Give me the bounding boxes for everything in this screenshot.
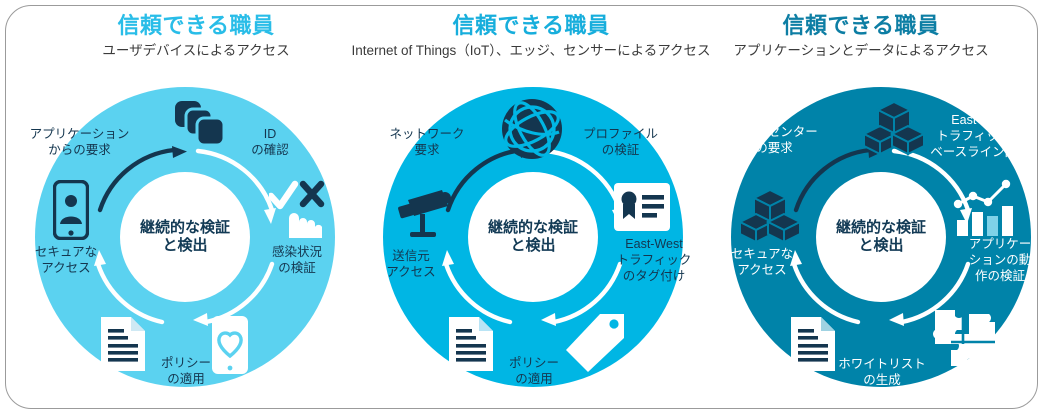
label-mid-left: セキュアな アクセス <box>712 246 812 278</box>
hub-line-2: と検出 <box>836 237 926 255</box>
label-bottom: ポリシー の適用 <box>488 355 580 387</box>
column-header-apps-and-data: 信頼できる職員 アプリケーションとデータによるアクセス <box>671 14 1045 59</box>
label-mid-left: セキュアな アクセス <box>16 244 116 276</box>
id-badge-icon <box>614 183 670 231</box>
column-subtitle: アプリケーションとデータによるアクセス <box>671 43 1045 59</box>
diagram-frame: 信頼できる職員 ユーザデバイスによるアクセス 信頼できる職員 Internet … <box>5 5 1038 409</box>
label-top-left: ネットワーク 要求 <box>362 126 492 158</box>
label-top-right: ID の確認 <box>230 126 310 158</box>
stacked-apps-icon <box>173 99 227 151</box>
hub-line-2: と検出 <box>488 237 578 255</box>
label-top-right: East-West トラフィックの ベースライン設定 <box>914 112 1045 160</box>
label-mid-left: 送信元 アクセス <box>370 248 452 280</box>
column-title: 信頼できる職員 <box>671 14 1045 37</box>
check-cross-tap-icon <box>269 180 325 242</box>
hub-line-1: 継続的な検証 <box>140 219 230 237</box>
hub-line-2: と検出 <box>140 237 230 255</box>
hub-line-1: 継続的な検証 <box>488 219 578 237</box>
zero-trust-cycle-user-devices: 継続的な検証 と検出 <box>20 84 350 414</box>
cycle-hub: 継続的な検証 と検出 <box>120 172 250 302</box>
hub-line-1: 継続的な検証 <box>836 219 926 237</box>
zero-trust-cycle-apps-and-data: 継続的な検証 と検出 <box>716 84 1045 414</box>
cycle-hub: 継続的な検証 と検出 <box>468 172 598 302</box>
network-globe-icon <box>501 98 563 160</box>
label-top-left: データセンター の要求 <box>706 124 842 156</box>
label-bottom: ホワイトリスト の生成 <box>822 356 942 388</box>
analytics-chart-icon <box>952 176 1014 238</box>
label-mid-right: 感染状況 の検証 <box>252 244 342 276</box>
label-bottom: ポリシー の適用 <box>140 355 232 387</box>
smartphone-user-icon <box>53 180 89 240</box>
label-top-right: プロファイル の検証 <box>563 126 678 158</box>
cycle-hub: 継続的な検証 と検出 <box>816 172 946 302</box>
server-cubes-icon <box>740 188 800 244</box>
security-camera-icon <box>396 188 456 242</box>
label-top-left: アプリケーション からの要求 <box>12 126 147 158</box>
label-mid-right: アプリケー ションの動 作の検証 <box>954 236 1045 284</box>
label-mid-right: East-West トラフィック のタグ付け <box>606 236 702 284</box>
zero-trust-cycle-iot-edge-sensors: 継続的な検証 と検出 <box>368 84 698 414</box>
